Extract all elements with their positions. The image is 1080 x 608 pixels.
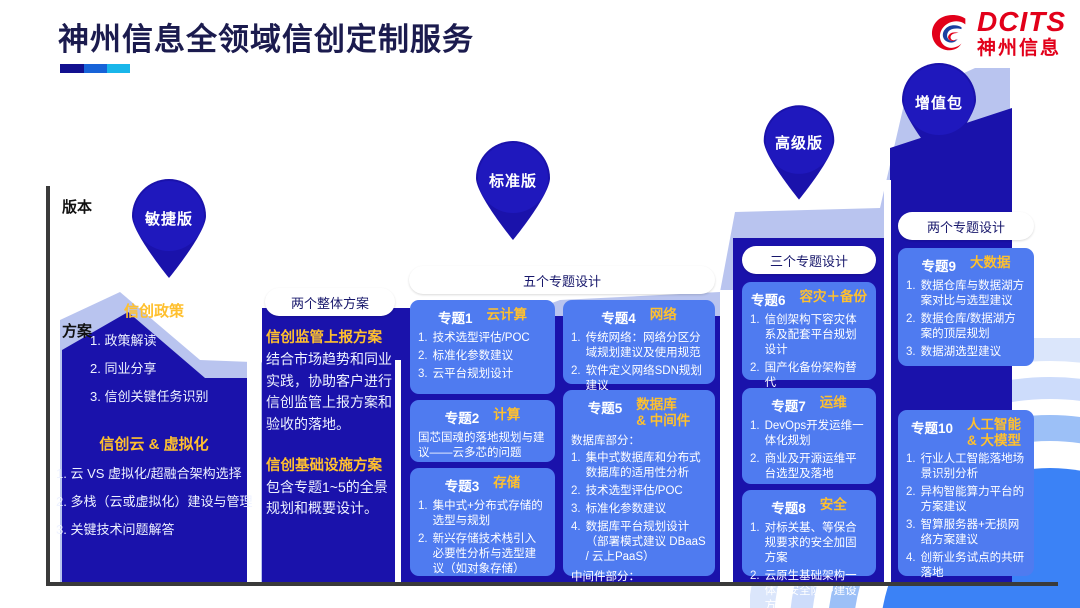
axis-vertical	[46, 186, 50, 582]
plan2-body: 包含专题1~5的全景规划和概要设计。	[266, 477, 394, 520]
card-topic-2[interactable]: 专题2 计算 国芯国魂的落地规划与建议——云多芯的问题	[410, 400, 555, 462]
topic-item: 1.DevOps开发运维一体化规划	[750, 419, 868, 449]
topic-number: 专题4	[601, 307, 636, 327]
pill-two-topic-designs[interactable]: 两个专题设计	[898, 212, 1034, 240]
topic-item: 2.云原生基础架构一体化安全防护建设方案	[750, 569, 868, 608]
card-topic-3[interactable]: 专题3 存储 1.集中式+分布式存储的选型与规划 2.新兴存储技术栈引入必要性分…	[410, 468, 555, 576]
agile-section1-item: 3. 信创关键任务识别	[50, 386, 258, 405]
pin-label-advanced: 高级版	[758, 132, 840, 153]
axis-label-version: 版本	[62, 196, 92, 217]
agile-section2-item: 2. 多栈（云或虚拟化）建设与管理	[50, 491, 258, 510]
card-topic-8[interactable]: 专题8 安全 1.对标关基、等保合规要求的安全加固方案 2.云原生基础架构一体化…	[742, 490, 876, 576]
topic-item: 1.集中式+分布式存储的选型与规划	[418, 499, 547, 529]
topic-item: 2.标准化参数建议	[418, 349, 547, 364]
column-agile: 信创政策 1. 政策解读 2. 同业分享 3. 信创关键任务识别 信创云 & 虚…	[50, 300, 258, 580]
page-title: 神州信息全领域信创定制服务	[58, 14, 474, 59]
topic-title: 网络	[650, 307, 677, 323]
topic-title: 人工智能 & 大模型	[967, 417, 1021, 448]
logo-wordmark-cn: 神州信息	[977, 39, 1066, 58]
plan1-body: 结合市场趋势和同业实践，协助客户进行信创监管上报方案和验收的落地。	[266, 349, 394, 436]
topic-item: 3.智算服务器+无损网络方案建议	[906, 518, 1026, 548]
pill-two-overall-plans[interactable]: 两个整体方案	[265, 288, 395, 316]
topic-item: 1.技术选型评估/POC	[418, 331, 547, 346]
topic-number: 专题10	[911, 417, 953, 437]
topic-item: 3.云平台规划设计	[418, 367, 547, 382]
topic-title: 计算	[493, 407, 520, 423]
column-overall-plans: 信创监管上报方案 结合市场趋势和同业实践，协助客户进行信创监管上报方案和验收的落…	[266, 326, 394, 576]
topic-item: 4.数据库平台规划设计（部署模式建议 DBaaS / 云上PaaS）	[571, 520, 707, 565]
topic-item: 3.数据湖选型建议	[906, 345, 1026, 360]
agile-section2-item: 1. 云 VS 虚拟化/超融合架构选择	[50, 463, 258, 482]
topic-number: 专题3	[445, 475, 480, 495]
pin-marker-standard[interactable]: 标准版	[470, 140, 556, 240]
card-topic-4[interactable]: 专题4 网络 1.传统网络：网络分区分域规划建议及使用规范 2.软件定义网络SD…	[563, 300, 715, 384]
topic-number: 专题1	[438, 307, 473, 327]
topic-title: 容灾＋备份	[800, 289, 868, 305]
topic-item: 1.对标关基、等保合规要求的安全加固方案	[750, 521, 868, 566]
brand-logo: DCITS 神州信息	[927, 8, 1066, 58]
topic-item: 1.信创架构下容灾体系及配套平台规划设计	[750, 313, 868, 358]
pin-label-valueadd: 增值包	[896, 92, 982, 113]
agile-section1-heading: 信创政策	[50, 300, 258, 321]
topic-title: 云计算	[487, 307, 528, 323]
axis-label-solution: 方案	[62, 320, 92, 341]
topic-number: 专题9	[921, 255, 956, 275]
topic-number: 专题8	[771, 497, 806, 517]
agile-section2-heading: 信创云 & 虚拟化	[50, 433, 258, 454]
topic-item: 1.集中式数据库和分布式数据库的适用性分析	[571, 451, 707, 481]
card-topic-5[interactable]: 专题5 数据库 & 中间件 数据库部分： 1.集中式数据库和分布式数据库的适用性…	[563, 390, 715, 576]
pin-marker-advanced[interactable]: 高级版	[758, 104, 840, 200]
topic-number: 专题7	[771, 395, 806, 415]
pin-label-agile: 敏捷版	[126, 208, 212, 229]
plan2-heading: 信创基础设施方案	[266, 454, 394, 475]
topic-number: 专题6	[751, 289, 786, 309]
slide-canvas: 神州信息全领域信创定制服务 DCITS 神州信息 版本 方案	[0, 0, 1080, 608]
pin-marker-agile[interactable]: 敏捷版	[126, 178, 212, 278]
topic-item: 2.新兴存储技术栈引入必要性分析与选型建议（如对象存储）	[418, 532, 547, 577]
pin-label-standard: 标准版	[470, 170, 556, 191]
card-topic-9[interactable]: 专题9 大数据 1.数据仓库与数据湖方案对比与选型建议 2.数据仓库/数据湖方案…	[898, 248, 1034, 366]
topic-item: 2.异构智能算力平台的方案建议	[906, 485, 1026, 515]
topic-title: 大数据	[970, 255, 1011, 271]
topic-item: 2.技术选型评估/POC	[571, 484, 707, 499]
topic-title: 安全	[820, 497, 847, 513]
topic-item: 2.数据仓库/数据湖方案的顶层规划	[906, 312, 1026, 342]
card-topic-10[interactable]: 专题10 人工智能 & 大模型 1.行业人工智能落地场景识别分析 2.异构智能算…	[898, 410, 1034, 576]
topic-subheading: 数据库部分：	[571, 432, 707, 448]
topic-title: 存储	[493, 475, 520, 491]
pin-marker-valueadd[interactable]: 增值包	[896, 62, 982, 162]
card-topic-6[interactable]: 专题6 容灾＋备份 1.信创架构下容灾体系及配套平台规划设计 2.国产化备份架构…	[742, 282, 876, 380]
card-topic-1[interactable]: 专题1 云计算 1.技术选型评估/POC 2.标准化参数建议 3.云平台规划设计	[410, 300, 555, 394]
topic-body: 国芯国魂的落地规划与建议——云多芯的问题	[418, 431, 547, 461]
pill-five-topic-designs[interactable]: 五个专题设计	[409, 266, 715, 294]
topic-item: 2.商业及开源运维平台选型及落地	[750, 452, 868, 482]
title-underline	[60, 64, 130, 73]
logo-wordmark: DCITS	[977, 8, 1066, 36]
axis-horizontal	[46, 582, 1058, 586]
topic-item: 1.数据仓库与数据湖方案对比与选型建议	[906, 279, 1026, 309]
topic-title: 运维	[820, 395, 847, 411]
dcits-swirl-icon	[927, 10, 973, 56]
topic-item: 1.行业人工智能落地场景识别分析	[906, 452, 1026, 482]
pill-three-topic-designs[interactable]: 三个专题设计	[742, 246, 876, 274]
agile-section2-item: 3. 关键技术问题解答	[50, 519, 258, 538]
topic-body: 中间件选型策略：云原生优先+传统信创中间件+开源管理	[571, 587, 707, 608]
agile-section1-item: 2. 同业分享	[50, 358, 258, 377]
topic-item: 3.标准化参数建议	[571, 502, 707, 517]
topic-item: 2.国产化备份架构替代	[750, 361, 868, 391]
card-topic-7[interactable]: 专题7 运维 1.DevOps开发运维一体化规划 2.商业及开源运维平台选型及落…	[742, 388, 876, 484]
topic-item: 4.创新业务试点的共研落地	[906, 551, 1026, 581]
topic-item: 1.传统网络：网络分区分域规划建议及使用规范	[571, 331, 707, 361]
topic-number: 专题2	[445, 407, 480, 427]
topic-title: 数据库 & 中间件	[636, 397, 690, 428]
plan1-heading: 信创监管上报方案	[266, 326, 394, 347]
topic-number: 专题5	[588, 397, 623, 417]
